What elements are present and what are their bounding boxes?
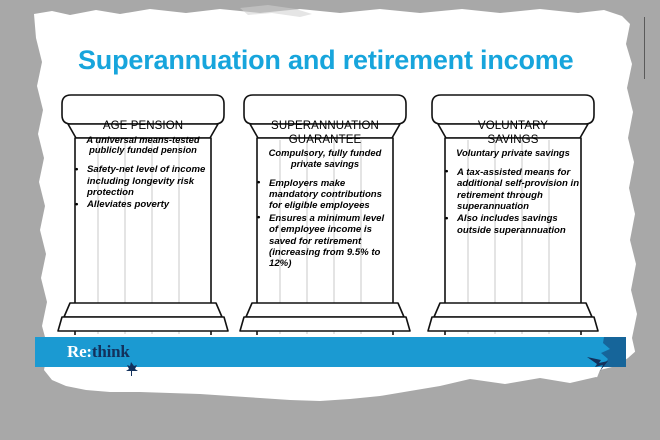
footer-brand-band: Re:think — [35, 337, 625, 367]
logo-flag-icon — [126, 362, 138, 376]
logo-prefix: Re: — [67, 342, 92, 361]
logo-suffix: think — [92, 342, 130, 361]
band-swoosh-icon — [587, 356, 609, 372]
pillar-bases — [0, 0, 660, 440]
rethink-logo: Re:think — [67, 342, 130, 362]
